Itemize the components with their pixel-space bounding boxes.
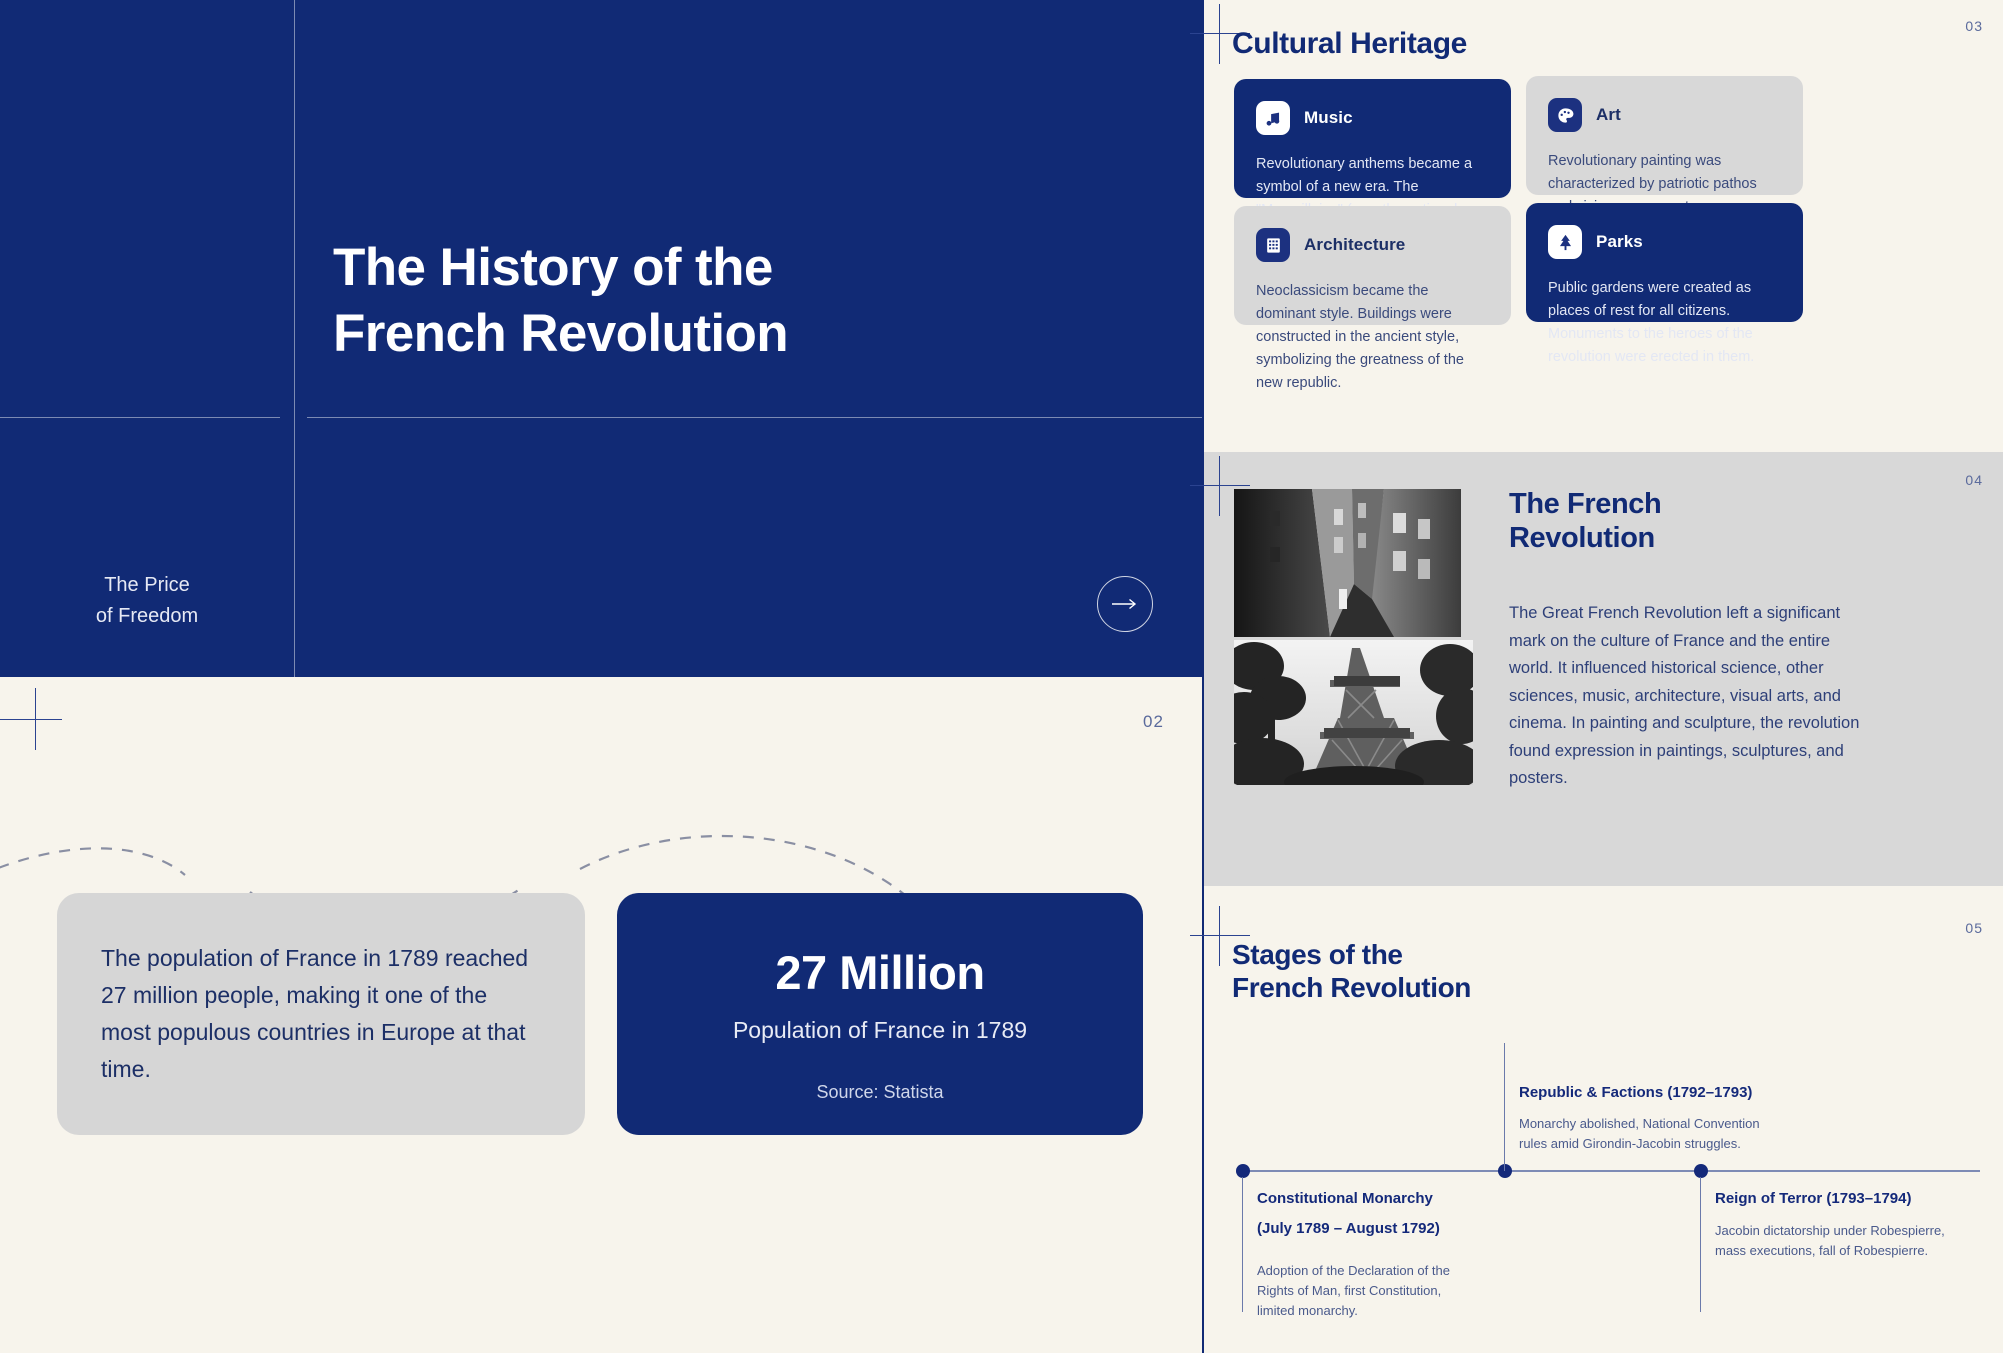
building-icon: [1256, 228, 1290, 262]
revolution-title: The French Revolution: [1509, 487, 1661, 555]
timeline-item-2-desc: Monarchy abolished, National Convention …: [1519, 1114, 1769, 1154]
revolution-body-text: The Great French Revolution left a signi…: [1509, 600, 1869, 793]
title-line-1: The History of the: [333, 235, 1033, 301]
tree-icon: [1548, 225, 1582, 259]
stat-highlight-card: 27 Million Population of France in 1789 …: [617, 893, 1143, 1135]
french-revolution-slide: 04: [1204, 452, 2003, 886]
timeline-stem-2: [1504, 1043, 1505, 1171]
heritage-card-header: Art: [1548, 98, 1781, 132]
arrow-right-icon: [1112, 598, 1138, 610]
revolution-title-line-1: The French: [1509, 487, 1661, 521]
heritage-card-title: Art: [1596, 105, 1621, 125]
cultural-heritage-slide: Cultural Heritage 03 Music Revolutionary…: [1204, 0, 2003, 452]
timeline-item-3-title-line-1: Reign of Terror (1793–1794): [1715, 1188, 1965, 1210]
timeline-dot-3[interactable]: [1694, 1164, 1708, 1178]
right-column: Cultural Heritage 03 Music Revolutionary…: [1202, 0, 2003, 1353]
timeline-stem-3: [1700, 1177, 1701, 1312]
timeline-item-1-title: Constitutional Monarchy (July 1789 – Aug…: [1257, 1188, 1507, 1240]
subtitle-line-2: of Freedom: [0, 601, 294, 632]
timeline-item-2-title: Republic & Factions (1792–1793): [1519, 1082, 1799, 1104]
revolution-title-line-2: Revolution: [1509, 521, 1661, 555]
hero-vertical-rule-bottom: [294, 418, 295, 677]
music-note-icon: [1256, 101, 1290, 135]
timeline-item-3-desc: Jacobin dictatorship under Robespierre, …: [1715, 1221, 1960, 1261]
heritage-card-title: Architecture: [1304, 235, 1405, 255]
heritage-card-header: Architecture: [1256, 228, 1489, 262]
stages-slide: 05 Stages of the French Revolution Const…: [1204, 886, 2003, 1353]
timeline-stem-1: [1242, 1177, 1243, 1312]
heritage-card-parks[interactable]: Parks Public gardens were created as pla…: [1526, 203, 1803, 322]
heritage-card-body: Public gardens were created as places of…: [1548, 277, 1781, 369]
stat-label: Population of France in 1789: [733, 1017, 1027, 1044]
heritage-card-body: Neoclassicism became the dominant style.…: [1256, 280, 1489, 395]
title-line-2: French Revolution: [333, 301, 1033, 367]
title-subtitle: The Price of Freedom: [0, 570, 294, 632]
stages-title-line-2: French Revolution: [1232, 971, 1471, 1004]
timeline-item-1-title-line-2: (July 1789 – August 1792): [1257, 1218, 1507, 1240]
timeline-item-1-title-line-1: Constitutional Monarchy: [1257, 1188, 1507, 1210]
page-number-05: 05: [1965, 920, 1983, 936]
page-number-04: 04: [1965, 472, 1983, 488]
stat-source: Source: Statista: [816, 1082, 943, 1103]
heritage-card-title: Music: [1304, 108, 1353, 128]
eiffel-tower-photo: [1234, 640, 1473, 785]
hero-horizontal-rule-left: [0, 417, 280, 418]
presentation-board: The History of the French Revolution The…: [0, 0, 2003, 1353]
page-number-02: 02: [1143, 712, 1164, 732]
stages-title-line-1: Stages of the: [1232, 938, 1471, 971]
left-column: The History of the French Revolution The…: [0, 0, 1202, 1353]
stages-title: Stages of the French Revolution: [1232, 938, 1471, 1004]
next-slide-button[interactable]: [1097, 576, 1153, 632]
heritage-card-title: Parks: [1596, 232, 1643, 252]
page-title: The History of the French Revolution: [333, 235, 1033, 366]
narrow-old-street-photo: [1234, 489, 1461, 637]
page-number-03: 03: [1965, 18, 1983, 34]
timeline-item-1-desc: Adoption of the Declaration of the Right…: [1257, 1261, 1472, 1321]
heritage-title: Cultural Heritage: [1232, 26, 1467, 61]
subtitle-line-1: The Price: [0, 570, 294, 601]
timeline-axis: [1240, 1170, 1980, 1172]
stat-description-text: The population of France in 1789 reached…: [57, 940, 585, 1089]
heritage-card-art[interactable]: Art Revolutionary painting was character…: [1526, 76, 1803, 195]
heritage-card-music[interactable]: Music Revolutionary anthems became a sym…: [1234, 79, 1511, 198]
title-slide: The History of the French Revolution The…: [0, 0, 1202, 677]
hero-horizontal-rule-right: [307, 417, 1202, 418]
timeline-item-2-title-line-1: Republic & Factions (1792–1793): [1519, 1082, 1799, 1104]
stat-description-card: The population of France in 1789 reached…: [57, 893, 585, 1135]
hero-vertical-rule-top: [294, 0, 295, 418]
stat-big-number: 27 Million: [775, 945, 984, 1000]
timeline-item-3-title: Reign of Terror (1793–1794): [1715, 1188, 1965, 1210]
timeline-dot-1[interactable]: [1236, 1164, 1250, 1178]
heritage-card-header: Music: [1256, 101, 1489, 135]
decorative-plus-mark-left: [0, 688, 62, 750]
heritage-card-architecture[interactable]: Architecture Neoclassicism became the do…: [1234, 206, 1511, 325]
palette-icon: [1548, 98, 1582, 132]
heritage-card-header: Parks: [1548, 225, 1781, 259]
